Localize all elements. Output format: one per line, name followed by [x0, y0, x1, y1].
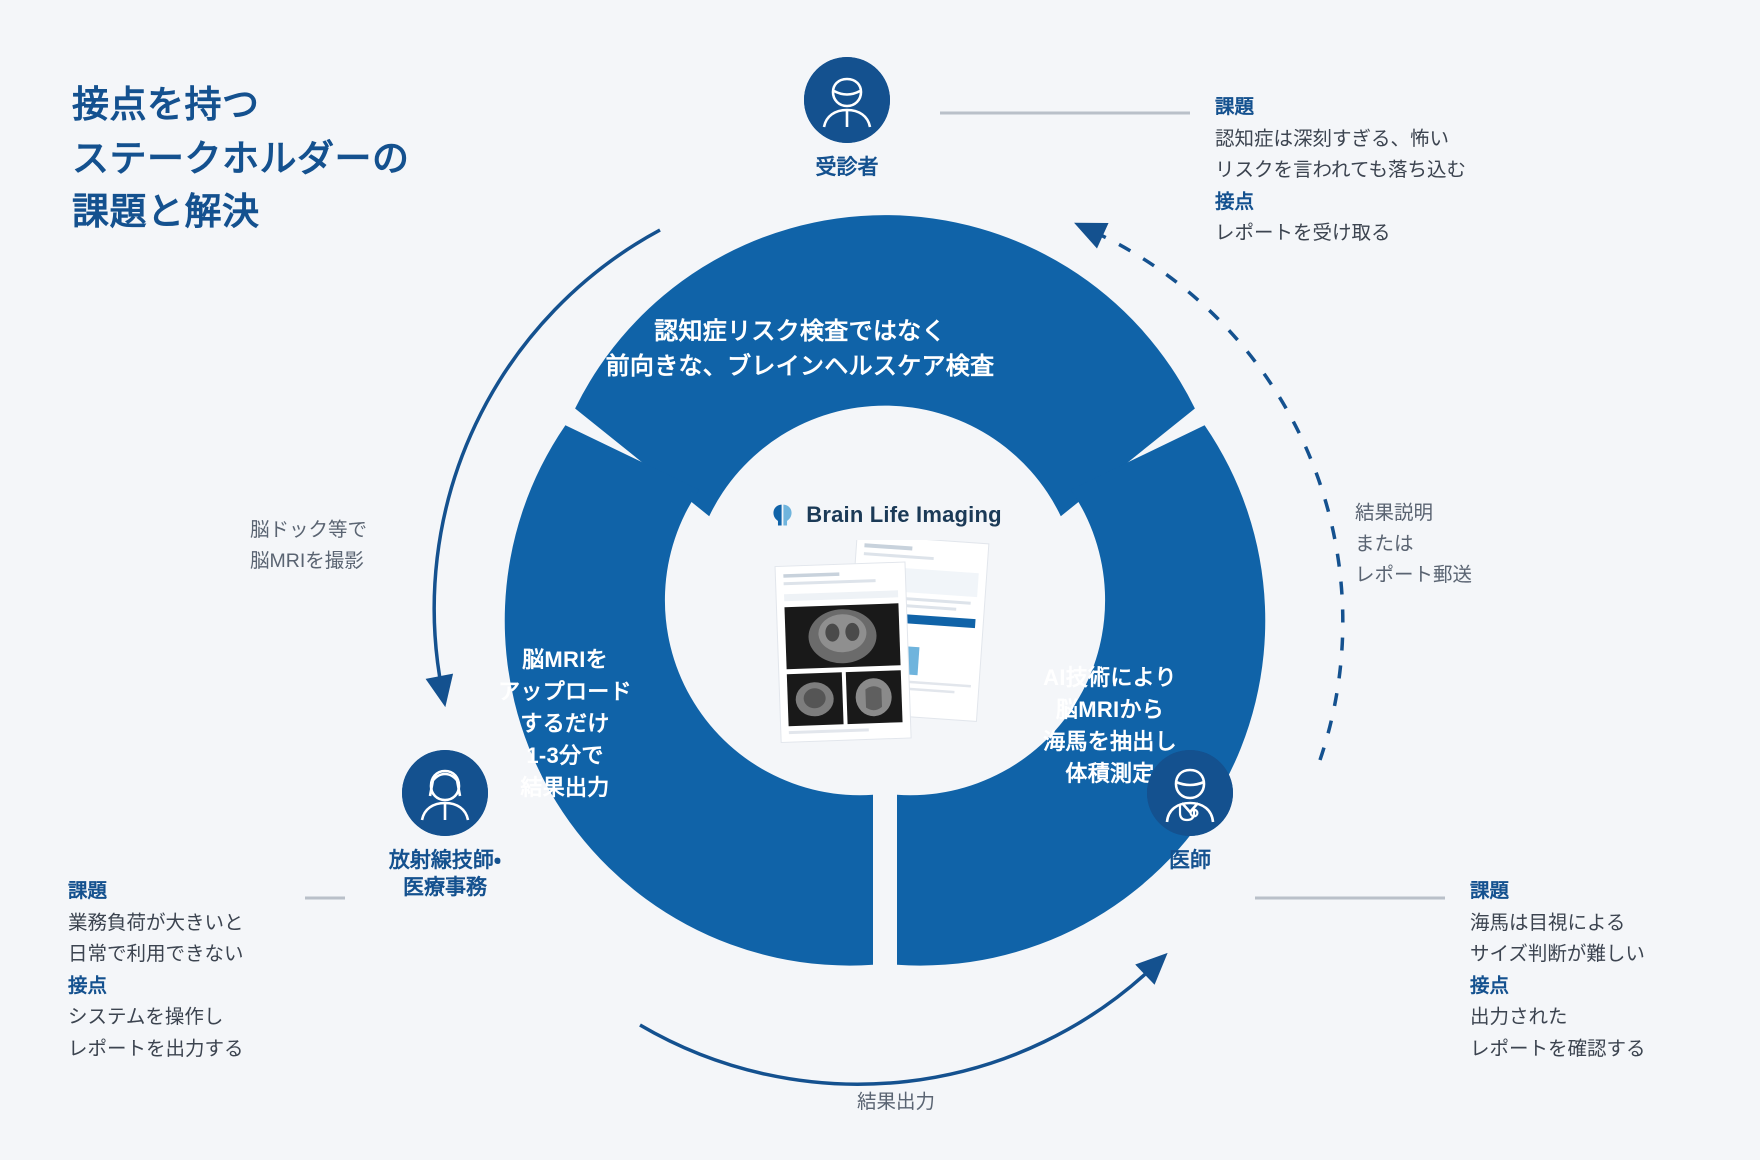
flow-label-bottom: 結果出力 [816, 1087, 976, 1118]
callout-patient-touchpoint-heading: 接点 [1215, 187, 1565, 219]
doctor-icon [1147, 750, 1233, 836]
callout-patient: 課題 認知症は深刻すぎる、怖い リスクを言われても落ち込む 接点 レポートを受け… [1215, 92, 1565, 250]
brand-logo-text: Brain Life Imaging [806, 502, 1002, 528]
role-technician-label: 放射線技師・ 医療事務 [345, 847, 545, 902]
flow-label-left: 脳ドック等で 脳MRIを撮影 [250, 515, 440, 577]
role-doctor-label: 医師 [1110, 847, 1270, 874]
callout-technician-touchpoint-body: システムを操作し レポートを出力する [68, 1002, 358, 1065]
role-radiology-technician[interactable]: 放射線技師・ 医療事務 [345, 750, 545, 902]
callout-patient-issue-body: 認知症は深刻すぎる、怖い リスクを言われても落ち込む [1215, 124, 1565, 187]
callout-doctor-issue-heading: 課題 [1470, 876, 1760, 908]
role-doctor[interactable]: 医師 [1110, 750, 1270, 874]
callout-technician: 課題 業務負荷が大きいと 日常で利用できない 接点 システムを操作し レポートを… [68, 876, 358, 1065]
callout-doctor-issue-body: 海馬は目視による サイズ判断が難しい [1470, 908, 1760, 971]
technician-icon [402, 750, 488, 836]
infographic-canvas: 接点を持つ ステークホルダーの 課題と解決 認知症リスク検査で [0, 0, 1760, 1160]
role-patient-label: 受診者 [757, 154, 937, 181]
role-patient[interactable]: 受診者 [757, 57, 937, 181]
brand-logo: Brain Life Imaging [735, 495, 1035, 535]
callout-patient-touchpoint-body: レポートを受け取る [1215, 218, 1565, 250]
report-preview: 6,252 [770, 540, 1010, 750]
role-patient-avatar [804, 57, 890, 143]
flow-label-right: 結果説明 または レポート郵送 [1355, 498, 1555, 592]
callout-doctor: 課題 海馬は目視による サイズ判断が難しい 接点 出力された レポートを確認する [1470, 876, 1760, 1065]
callout-technician-issue-body: 業務負荷が大きいと 日常で利用できない [68, 908, 358, 971]
callout-patient-issue-heading: 課題 [1215, 92, 1565, 124]
callout-technician-touchpoint-heading: 接点 [68, 971, 358, 1003]
role-doctor-avatar [1147, 750, 1233, 836]
segment-label-top: 認知症リスク検査ではなく 前向きな、ブレインヘルスケア検査 [565, 315, 1035, 385]
callout-doctor-touchpoint-heading: 接点 [1470, 971, 1760, 1003]
callout-technician-issue-heading: 課題 [68, 876, 358, 908]
role-technician-avatar [402, 750, 488, 836]
flow-arc-bottom [640, 965, 1155, 1084]
callout-doctor-touchpoint-body: 出力された レポートを確認する [1470, 1002, 1760, 1065]
person-icon [804, 57, 890, 143]
brain-logo-icon [768, 501, 797, 530]
